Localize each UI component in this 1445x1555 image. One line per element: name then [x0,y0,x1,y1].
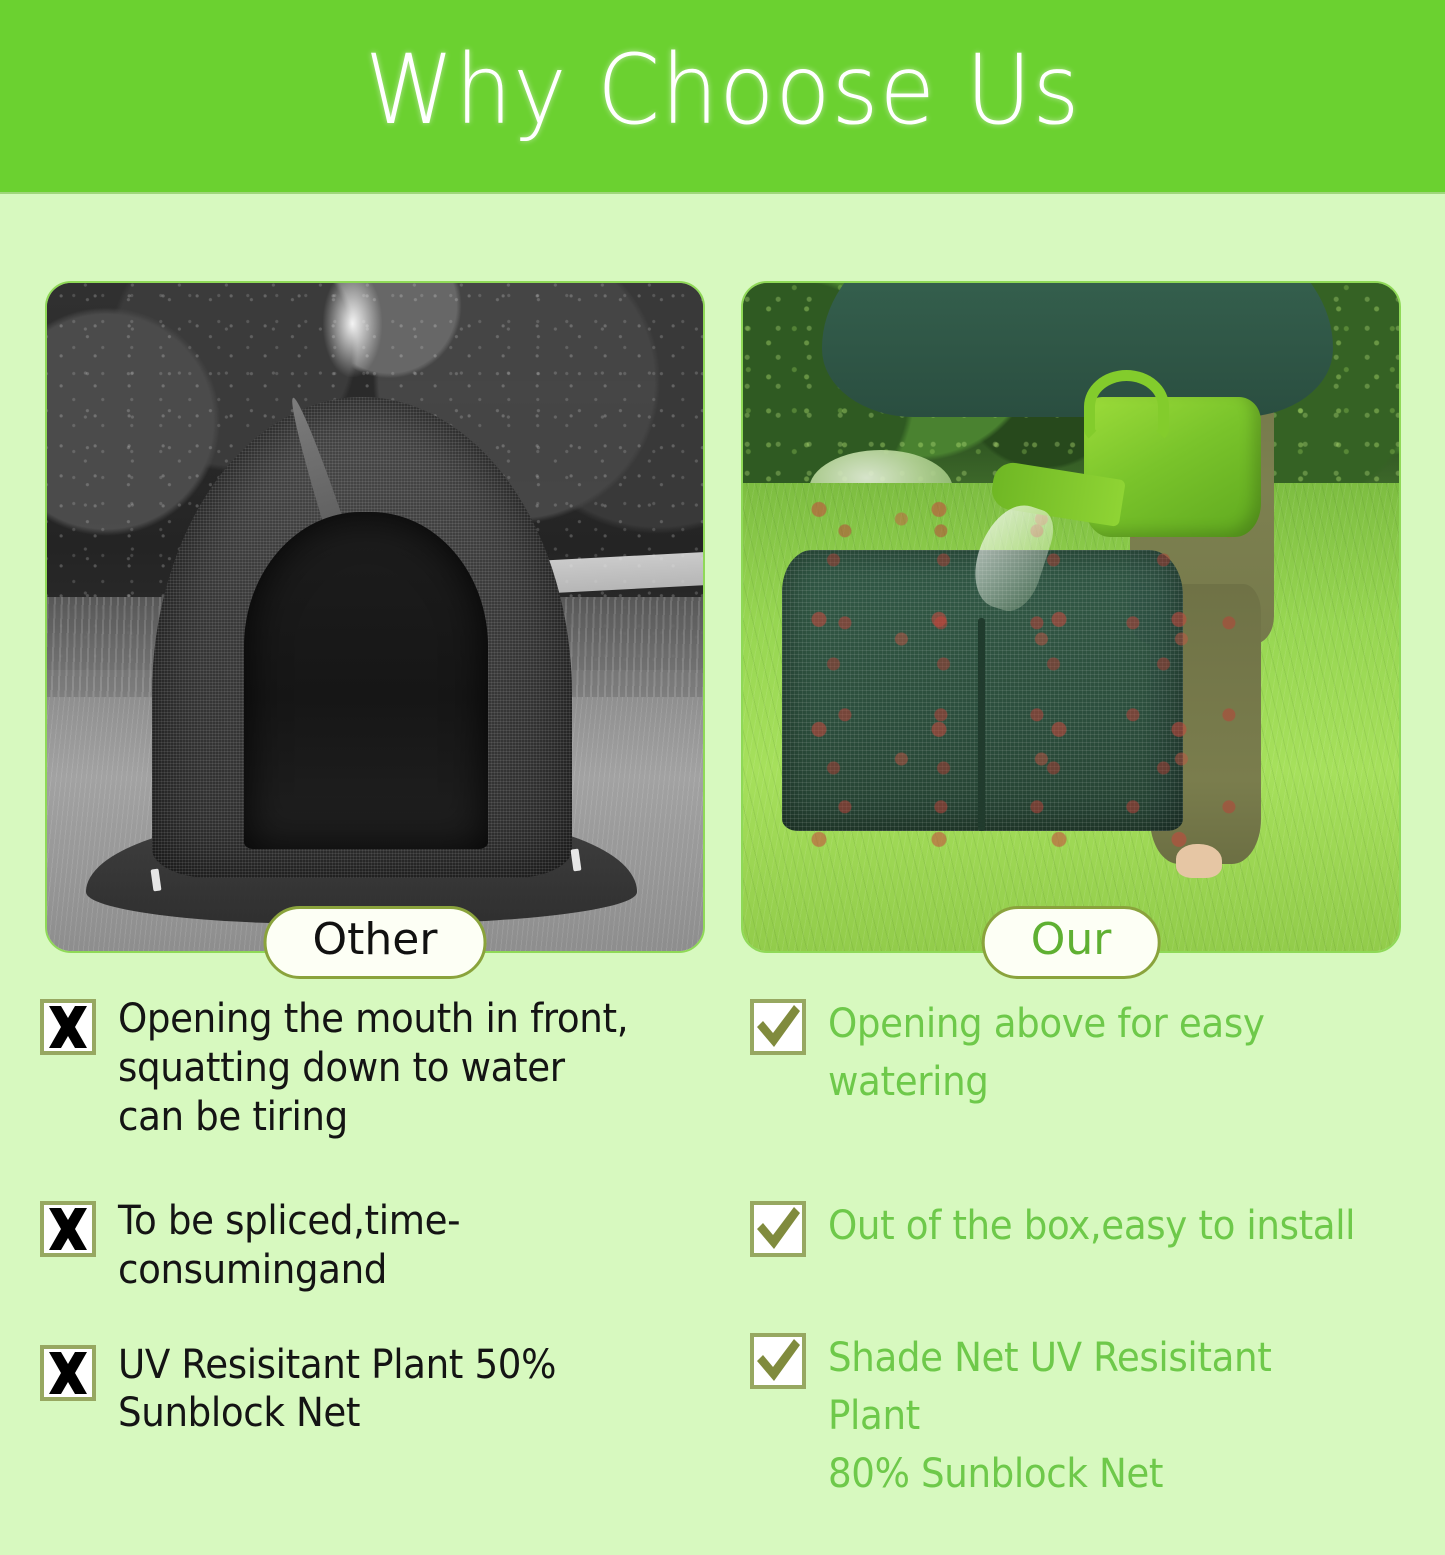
benefits-column: Opening above for easy watering Out of t… [750,995,1410,1555]
photo-our-scene [743,283,1399,951]
list-item: Out of the box,easy to install [750,1197,1410,1283]
sky-gap-gray [323,283,382,377]
list-item: Opening the mouth in front, squatting do… [40,995,700,1145]
list-item: UV Resisitant Plant 50% Sunblock Net [40,1341,700,1439]
photo-other-scene [47,283,703,951]
photo-our [741,281,1401,953]
badge-our: Our [982,906,1161,979]
list-item-label: Out of the box,easy to install [828,1197,1355,1255]
list-item-label: Shade Net UV Resisitant Plant 80% Sunblo… [828,1329,1369,1503]
x-mark-icon [40,1345,96,1401]
header-banner: Why Choose Us [0,0,1445,192]
list-item-label: Opening the mouth in front, squatting do… [118,995,628,1141]
list-item-label: Opening above for easy watering [828,995,1369,1111]
comparison-panels: Other [45,281,1401,953]
list-item-label: UV Resisitant Plant 50% Sunblock Net [118,1341,556,1439]
list-item: Shade Net UV Resisitant Plant 80% Sunblo… [750,1329,1410,1503]
infographic-page: Why Choose Us [0,0,1445,1445]
panel-other: Other [45,281,705,953]
badge-other: Other [264,906,487,979]
tent-front-opening-gray [244,512,488,849]
watering-can-handle [1084,370,1169,443]
list-item-label: To be spliced,time-consumingand [118,1197,659,1295]
mesh-top-opening [822,283,1334,417]
panel-our: Our [741,281,1401,953]
x-mark-icon [40,1201,96,1257]
list-item: To be spliced,time-consumingand [40,1197,700,1295]
list-item: Opening above for easy watering [750,995,1410,1145]
feature-lists: Opening the mouth in front, squatting do… [40,995,1410,1555]
photo-other [45,281,705,953]
check-mark-icon [750,1201,806,1257]
check-mark-icon [750,999,806,1055]
drawbacks-column: Opening the mouth in front, squatting do… [40,995,700,1555]
x-mark-icon [40,999,96,1055]
page-title: Why Choose Us [365,42,1081,150]
check-mark-icon [750,1333,806,1389]
